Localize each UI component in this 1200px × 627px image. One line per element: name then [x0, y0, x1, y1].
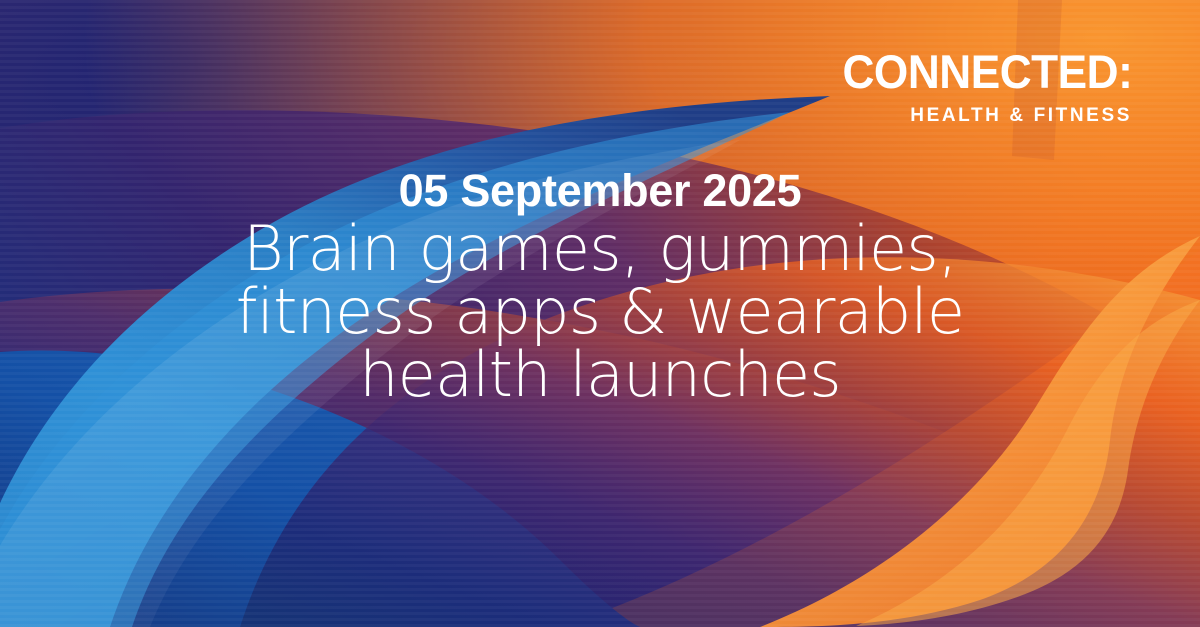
logo-wordmark: CONNECTED:	[842, 50, 1132, 95]
headline-line-3: health launches	[80, 343, 1120, 406]
headline-block: 05 September 2025 Brain games, gummies, …	[0, 168, 1200, 407]
headline-line-2: fitness apps & wearable	[80, 280, 1120, 343]
event-date: 05 September 2025	[0, 168, 1200, 213]
brand-logo: CONNECTED: HEALTH & FITNESS	[824, 50, 1132, 125]
page-title: Brain games, gummies, fitness apps & wea…	[0, 217, 1200, 407]
promo-banner: CONNECTED: HEALTH & FITNESS 05 September…	[0, 0, 1200, 627]
logo-subline: HEALTH & FITNESS	[824, 106, 1132, 125]
headline-line-1: Brain games, gummies,	[80, 217, 1120, 280]
